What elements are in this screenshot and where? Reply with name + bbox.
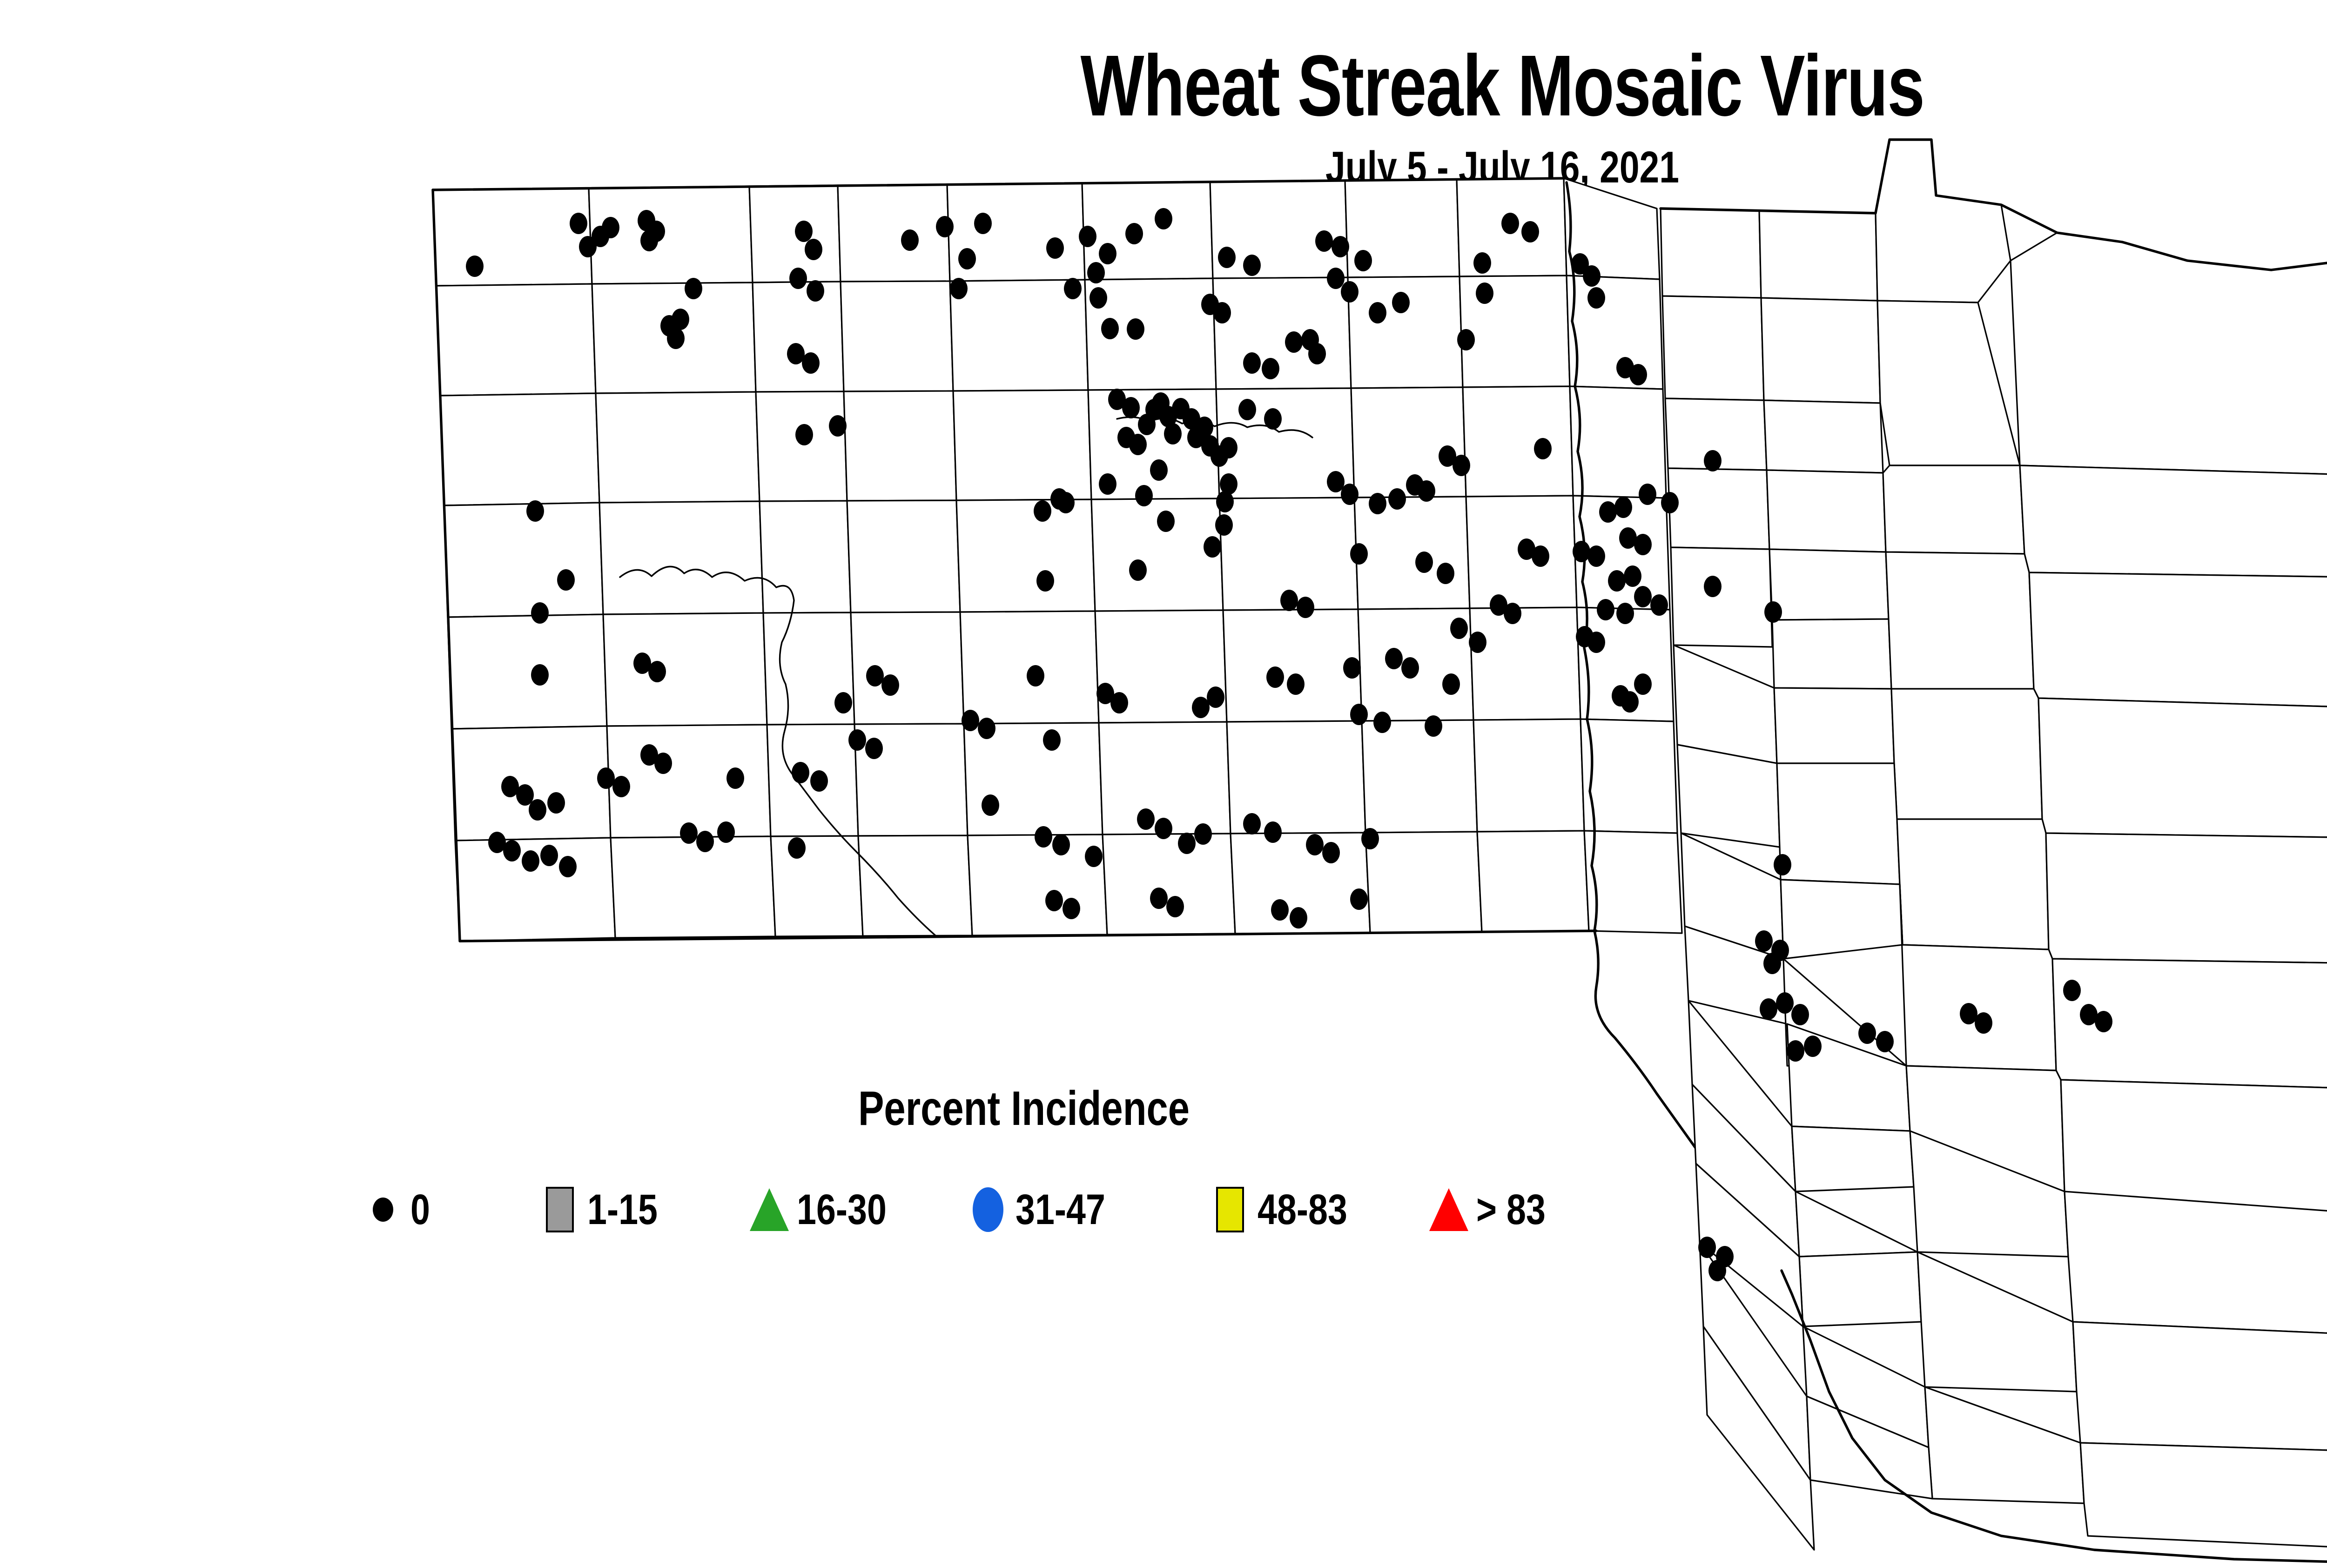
survey-point: [1150, 888, 1168, 909]
survey-point: [1315, 230, 1333, 252]
survey-point: [1369, 493, 1386, 514]
survey-point: [1308, 343, 1326, 364]
survey-point: [570, 213, 587, 234]
survey-point: [802, 352, 820, 374]
survey-point: [1804, 1036, 1822, 1057]
survey-point: [1280, 590, 1298, 611]
survey-point: [1453, 455, 1470, 476]
legend-marker-shape: [373, 1198, 393, 1222]
survey-point: [1196, 417, 1213, 438]
survey-point: [795, 221, 813, 242]
survey-point: [788, 837, 806, 859]
survey-point: [1704, 450, 1722, 471]
survey-point: [866, 665, 884, 686]
survey-point: [1704, 576, 1722, 597]
survey-point: [810, 770, 828, 792]
legend-swatch-circle-small-icon: [368, 1187, 398, 1232]
survey-point: [667, 328, 685, 349]
survey-point: [1650, 594, 1668, 616]
survey-point: [805, 239, 822, 260]
survey-point: [1101, 318, 1119, 339]
survey-point: [1343, 657, 1361, 679]
legend-item-label: 1-15: [587, 1188, 658, 1231]
survey-point: [466, 256, 484, 277]
survey-point: [1290, 907, 1307, 929]
survey-point: [1166, 896, 1184, 917]
survey-point: [1215, 514, 1233, 536]
survey-point: [1354, 250, 1372, 271]
survey-point: [1401, 657, 1419, 679]
survey-point: [1698, 1237, 1716, 1258]
survey-point: [1634, 673, 1652, 695]
survey-point: [1064, 278, 1082, 299]
legend-item-label: 31-47: [1016, 1188, 1105, 1231]
legend-marker-shape: [973, 1187, 1003, 1232]
survey-point: [1634, 534, 1652, 555]
survey-point: [1036, 570, 1054, 592]
survey-point: [1350, 543, 1368, 565]
survey-point: [1708, 1260, 1726, 1281]
legend-marker-shape: [750, 1188, 789, 1231]
survey-point: [672, 309, 689, 330]
north-dakota-counties: [433, 178, 1682, 941]
survey-point: [1776, 992, 1794, 1014]
survey-point: [1129, 434, 1147, 455]
survey-point: [557, 569, 575, 591]
survey-point: [1583, 265, 1601, 287]
survey-point: [1155, 208, 1172, 229]
legend-item-31-47[interactable]: 31-47: [973, 1179, 1125, 1240]
survey-point: [1457, 329, 1475, 350]
survey-point: [1157, 511, 1175, 532]
survey-point: [1614, 497, 1632, 518]
survey-point: [1129, 559, 1147, 581]
survey-point: [1045, 890, 1063, 911]
survey-point: [1599, 501, 1617, 523]
survey-point: [1052, 834, 1070, 855]
survey-point: [1243, 813, 1261, 834]
survey-point: [1476, 283, 1493, 304]
survey-point: [1122, 397, 1140, 418]
survey-point: [1204, 536, 1221, 558]
legend-item--83[interactable]: > 83: [1433, 1179, 1561, 1240]
survey-point: [1306, 834, 1324, 855]
survey-point: [1350, 888, 1368, 910]
survey-point: [865, 738, 883, 759]
legend-item-48-83[interactable]: 48-83: [1215, 1179, 1367, 1240]
survey-point: [597, 767, 615, 789]
survey-point: [1616, 603, 1634, 624]
survey-point: [1034, 500, 1051, 522]
survey-point: [848, 729, 866, 751]
survey-point: [1137, 808, 1155, 830]
survey-point: [795, 424, 813, 445]
survey-point: [1264, 408, 1282, 430]
survey-point: [1262, 358, 1279, 379]
survey-point: [1760, 998, 1777, 1020]
legend-swatch-square-icon: [1215, 1187, 1245, 1232]
survey-point: [1858, 1023, 1876, 1044]
survey-point: [1373, 712, 1391, 733]
survey-point: [1450, 618, 1468, 639]
survey-point: [1063, 898, 1080, 919]
survey-point: [1178, 833, 1196, 854]
survey-point: [1207, 686, 1224, 708]
legend-item-1-15[interactable]: 1-15: [545, 1179, 673, 1240]
survey-point: [1035, 826, 1052, 848]
survey-point: [612, 776, 630, 797]
survey-point: [1099, 243, 1116, 264]
survey-point: [531, 602, 549, 624]
survey-point: [1621, 691, 1639, 713]
minnesota-counties: [1661, 140, 2327, 1564]
survey-point: [1350, 704, 1368, 725]
survey-point: [1473, 252, 1491, 274]
legend-swatch-circle-icon: [973, 1187, 1003, 1232]
survey-point: [1127, 318, 1144, 340]
survey-point: [1090, 287, 1107, 309]
legend-title: Percent Incidence: [849, 1084, 1199, 1133]
survey-point: [1501, 213, 1519, 234]
wheat-streak-mosaic-virus-map: Wheat Streak Mosaic Virus July 5 - July …: [0, 0, 2327, 1568]
survey-point: [1216, 491, 1234, 512]
survey-point: [1587, 287, 1605, 309]
survey-point: [982, 794, 999, 816]
survey-point: [1155, 818, 1172, 839]
survey-point: [648, 661, 666, 682]
survey-point: [1437, 563, 1454, 584]
survey-point: [1791, 1004, 1809, 1025]
survey-point: [829, 415, 847, 437]
survey-point: [1266, 666, 1284, 688]
survey-point: [1597, 599, 1614, 620]
legend-marker-shape: [1216, 1187, 1244, 1232]
survey-point: [1369, 302, 1386, 323]
survey-point: [529, 799, 546, 821]
survey-point: [1327, 471, 1345, 492]
survey-point: [958, 248, 976, 269]
survey-point: [2063, 980, 2081, 1001]
survey-point: [792, 762, 809, 783]
survey-point: [1243, 255, 1261, 276]
survey-point: [936, 216, 954, 237]
survey-point: [1361, 828, 1379, 849]
survey-point: [789, 268, 807, 289]
legend-marker-shape: [1429, 1188, 1468, 1231]
legend-item-0[interactable]: 0: [368, 1179, 434, 1240]
survey-point: [1629, 364, 1647, 385]
legend-swatch-triangle-icon: [754, 1187, 785, 1232]
legend-item-label: > 83: [1476, 1188, 1546, 1231]
survey-point: [696, 831, 714, 852]
survey-point: [680, 822, 698, 844]
survey-point: [1287, 673, 1305, 695]
survey-point: [1504, 603, 1521, 624]
survey-point: [1385, 648, 1403, 669]
survey-point: [1341, 281, 1359, 303]
survey-point: [1125, 223, 1143, 244]
legend-item-label: 48-83: [1258, 1188, 1347, 1231]
survey-point: [1392, 292, 1410, 313]
survey-point: [559, 856, 577, 877]
survey-point: [834, 692, 852, 713]
survey-point: [540, 845, 558, 866]
survey-point: [1639, 484, 1656, 505]
county-map: [0, 0, 2327, 1568]
survey-point: [881, 674, 899, 696]
survey-point: [807, 280, 824, 302]
survey-point: [1634, 586, 1652, 607]
survey-point: [647, 221, 665, 242]
survey-point: [1238, 399, 1256, 420]
survey-point: [1415, 552, 1433, 573]
legend-item-label: 16-30: [797, 1188, 887, 1231]
survey-point: [1774, 854, 1791, 875]
survey-point: [962, 710, 979, 731]
survey-point: [1264, 821, 1282, 843]
survey-point: [1043, 729, 1061, 751]
survey-point: [726, 767, 744, 789]
survey-point: [1442, 673, 1460, 695]
survey-point: [1050, 488, 1068, 510]
survey-point: [901, 229, 919, 251]
survey-point: [1573, 541, 1590, 562]
survey-point: [1534, 438, 1552, 459]
survey-point: [522, 850, 539, 872]
survey-point: [1220, 437, 1237, 458]
survey-point: [1332, 236, 1349, 257]
survey-point: [1087, 262, 1105, 283]
survey-point: [1624, 565, 1641, 587]
survey-point: [1418, 480, 1435, 502]
survey-point: [1587, 545, 1605, 567]
survey-point: [1138, 414, 1156, 435]
survey-point: [974, 213, 992, 234]
legend-item-label: 0: [410, 1188, 430, 1231]
survey-point: [526, 500, 544, 522]
survey-point: [602, 217, 619, 238]
survey-point: [1164, 423, 1182, 444]
survey-point: [1271, 899, 1289, 921]
legend-marker-shape: [546, 1187, 574, 1232]
legend-item-16-30[interactable]: 16-30: [754, 1179, 906, 1240]
survey-point: [1661, 492, 1679, 513]
survey-point: [547, 792, 565, 814]
survey-point: [685, 278, 702, 299]
survey-point: [1388, 488, 1406, 510]
survey-point: [1099, 473, 1116, 495]
survey-point: [1787, 1040, 1804, 1062]
legend-swatch-square-icon: [545, 1187, 575, 1232]
survey-point: [1755, 930, 1773, 952]
survey-point: [1587, 632, 1605, 653]
survey-point: [1213, 302, 1231, 323]
survey-point: [1135, 485, 1153, 506]
survey-point: [1763, 953, 1781, 974]
survey-point: [717, 821, 735, 843]
survey-point: [579, 236, 597, 257]
survey-point: [2095, 1011, 2112, 1032]
survey-point: [978, 718, 995, 739]
survey-point: [1218, 247, 1236, 268]
survey-point: [1521, 221, 1539, 242]
survey-point: [1327, 268, 1345, 289]
survey-point: [1150, 459, 1168, 481]
survey-point: [531, 664, 549, 686]
survey-point: [1975, 1012, 1992, 1034]
survey-point: [503, 840, 521, 861]
survey-point: [1192, 697, 1210, 718]
survey-point: [1297, 597, 1314, 618]
survey-point: [1532, 545, 1549, 567]
legend-swatch-triangle-icon: [1433, 1187, 1464, 1232]
survey-point: [1425, 715, 1442, 737]
survey-point: [1110, 692, 1128, 713]
survey-point: [1764, 601, 1782, 623]
survey-point: [1876, 1031, 1894, 1052]
survey-point: [950, 278, 968, 299]
survey-point: [1243, 352, 1261, 374]
survey-point: [1194, 823, 1212, 845]
survey-point: [1608, 570, 1626, 592]
survey-point: [1046, 237, 1064, 259]
survey-point: [654, 753, 672, 774]
survey-point: [1079, 226, 1096, 247]
survey-point: [1027, 665, 1044, 686]
survey-point: [1469, 632, 1486, 653]
survey-point: [1285, 331, 1303, 353]
survey-point: [1085, 846, 1103, 867]
survey-point: [1322, 842, 1340, 863]
